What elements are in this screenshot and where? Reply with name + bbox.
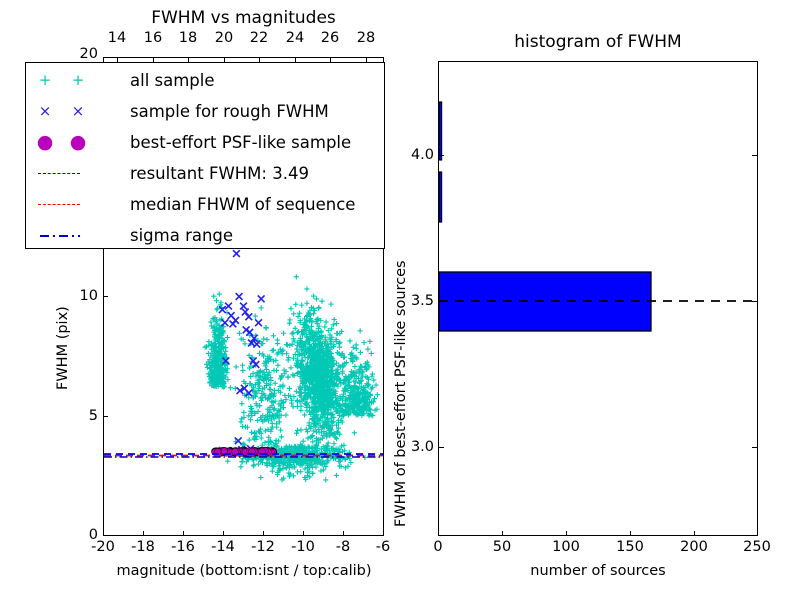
dashed-line-red <box>38 189 98 220</box>
left-xtick-label-7: -6 <box>363 539 403 555</box>
cross-marker: × × <box>34 96 74 127</box>
left-yaxis-label: FWHM (pix) <box>55 306 71 390</box>
left-ytick-label-0: 0 <box>68 527 98 543</box>
left-xtick-label-5: -10 <box>283 539 323 555</box>
legend-item-all-sample[interactable]: + + all sample <box>26 65 384 96</box>
right-xaxis-label: number of sources <box>498 563 698 579</box>
right-xtick-label-3: 150 <box>610 539 650 555</box>
left-ytick-label-20: 20 <box>68 46 98 62</box>
left-top-xtick-label-7: 28 <box>346 30 386 46</box>
left-top-xtick-label-0: 14 <box>97 30 137 46</box>
right-plot-canvas <box>439 62 757 535</box>
left-xtick-label-3: -14 <box>203 539 243 555</box>
legend-label-median-fhwm: median FHWM of sequence <box>130 189 355 220</box>
left-xtick-label-2: -16 <box>163 539 203 555</box>
legend-label-sigma-range: sigma range <box>130 220 233 251</box>
right-xtick-label-2: 100 <box>546 539 586 555</box>
left-top-xtick-label-6: 26 <box>310 30 350 46</box>
left-xtick-label-1: -18 <box>123 539 163 555</box>
histogram-bar-small-1 <box>439 172 442 222</box>
histogram-bar-small-2 <box>439 102 442 160</box>
left-top-xtick-label-2: 18 <box>168 30 208 46</box>
legend-label-psf-sample: best-effort PSF-like sample <box>130 127 351 158</box>
legend-item-sigma-range[interactable]: sigma range <box>26 220 384 251</box>
left-xaxis-label: magnitude (bottom:isnt / top:calib) <box>84 563 404 579</box>
left-panel-title: FWHM vs magnitudes <box>103 8 384 28</box>
right-panel-title: histogram of FWHM <box>438 32 758 52</box>
legend-item-median-fhwm[interactable]: median FHWM of sequence <box>26 189 384 220</box>
legend-item-resultant-fwhm[interactable]: resultant FWHM: 3.49 <box>26 158 384 189</box>
left-top-xtick-label-5: 24 <box>275 30 315 46</box>
figure-canvas: FWHM vs magnitudes -20 -18 -16 -14 -12 -… <box>0 0 800 600</box>
histogram-svg <box>439 62 757 535</box>
legend-label-rough-fwhm: sample for rough FWHM <box>130 96 329 127</box>
right-ytick-label-4-0: 4.0 <box>396 147 434 163</box>
left-ytick-label-5: 5 <box>68 408 98 424</box>
dashdot-line-blue <box>38 220 98 251</box>
right-xtick-label-4: 200 <box>674 539 714 555</box>
dot-marker: ● ● <box>34 127 74 158</box>
left-ytick-label-10: 10 <box>68 288 98 304</box>
right-xtick-label-0: 0 <box>418 539 458 555</box>
legend-label-all-sample: all sample <box>130 65 215 96</box>
legend-label-resultant-fwhm: resultant FWHM: 3.49 <box>130 158 309 189</box>
right-xtick-label-1: 50 <box>482 539 522 555</box>
right-yaxis-label: FWHM of best-effort PSF-like sources <box>393 260 409 527</box>
left-xtick-label-4: -12 <box>243 539 283 555</box>
left-top-xtick-label-3: 20 <box>204 30 244 46</box>
legend-box: + + all sample × × sample for rough FWHM… <box>25 62 385 249</box>
legend-item-rough-fwhm[interactable]: × × sample for rough FWHM <box>26 96 384 127</box>
right-xtick-label-5: 250 <box>737 539 777 555</box>
plus-marker: + + <box>34 65 74 96</box>
left-top-xtick-label-4: 22 <box>239 30 279 46</box>
left-top-xtick-label-1: 16 <box>133 30 173 46</box>
left-xtick-label-6: -8 <box>323 539 363 555</box>
legend-item-psf-sample[interactable]: ● ● best-effort PSF-like sample <box>26 127 384 158</box>
dashed-line-blue <box>38 158 98 189</box>
